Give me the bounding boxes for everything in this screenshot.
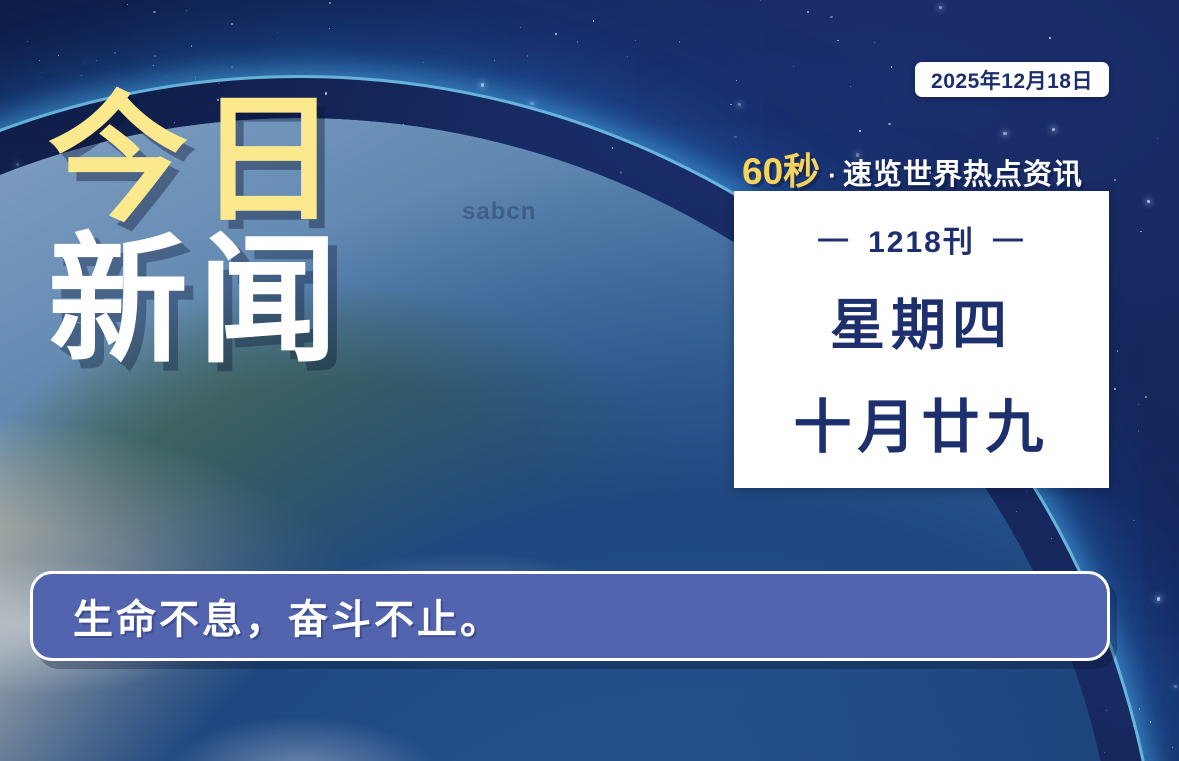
date-badge: 2025年12月18日 <box>915 62 1109 97</box>
dash-left-icon: — <box>818 222 850 256</box>
slogan-text: 速览世界热点资讯 <box>843 151 1083 193</box>
issue-info-card: — 1218刊 — 星期四 十月廿九 <box>734 191 1109 488</box>
slogan-separator: · <box>828 160 837 191</box>
slogan-seconds: 60秒 <box>742 141 820 195</box>
slogan-line: 60秒 · 速览世界热点资讯 <box>742 141 1083 195</box>
news-poster: sabcn 今日 新闻 2025年12月18日 60秒 · 速览世界热点资讯 —… <box>0 0 1179 761</box>
quote-text: 生命不息，奋斗不止。 <box>73 587 503 645</box>
dash-right-icon: — <box>993 222 1025 256</box>
quote-bar: 生命不息，奋斗不止。 <box>30 571 1110 661</box>
issue-number-row: — 1218刊 — <box>818 217 1025 261</box>
title-line-today: 今日 <box>48 96 478 225</box>
lunar-date-label: 十月廿九 <box>793 380 1049 464</box>
poster-title: 今日 新闻 <box>48 96 478 366</box>
weekday-label: 星期四 <box>830 280 1013 360</box>
title-line-news: 新闻 <box>48 237 478 366</box>
date-badge-label: 2025年12月18日 <box>931 65 1093 95</box>
issue-number: 1218刊 <box>868 217 975 261</box>
